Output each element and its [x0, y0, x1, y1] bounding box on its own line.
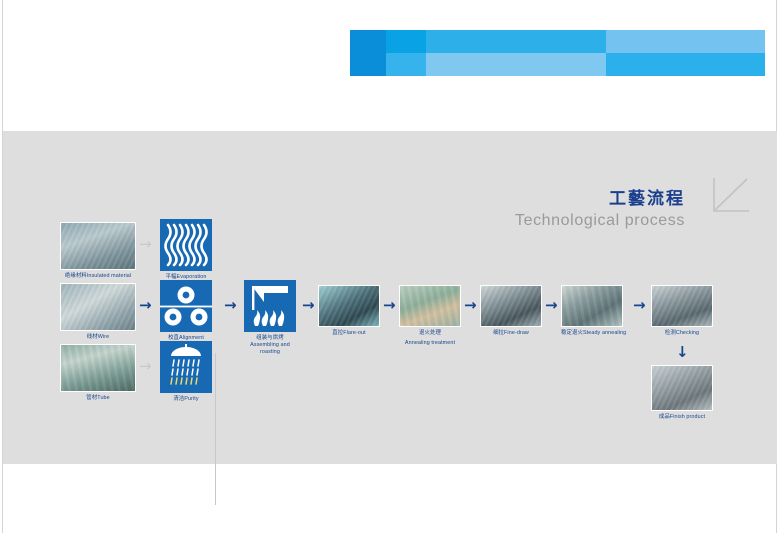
banner-segment-2	[386, 30, 426, 76]
page-title-english: Technological process	[515, 211, 685, 231]
thumb-wire	[60, 283, 136, 331]
decorative-blue-banner	[350, 30, 765, 76]
stage-wire[interactable]: 线材Wire	[60, 283, 136, 341]
page-title: 工藝流程 Technological process	[515, 189, 685, 231]
arrow-to-assembling-icon: →	[224, 298, 237, 313]
stage-tube[interactable]: 管材Tube	[60, 344, 136, 402]
thumb-insulated-material	[60, 222, 136, 270]
banner-segment-4	[606, 30, 765, 76]
three-rings-icon	[160, 280, 212, 332]
thumb-tube	[60, 344, 136, 392]
arrow-checking-to-finish-icon: ↓	[676, 345, 689, 360]
caption-wire: 线材Wire	[60, 334, 136, 341]
stage-steady-annealing[interactable]: 稳定退火Steady annealing	[561, 285, 623, 337]
caption-steady-annealing: 稳定退火Steady annealing	[561, 330, 623, 337]
caption-flare-out: 直拉Flare-out	[318, 330, 380, 337]
stage-purity[interactable]: 清洁Purity	[160, 341, 212, 403]
caption-checking: 检测Checking	[651, 330, 713, 337]
arrow-fine-to-steady-icon: →	[545, 298, 558, 313]
caption-annealing-en: Annealing treatment	[399, 340, 461, 347]
arrow-tube-to-purity-icon: →	[139, 359, 152, 374]
caption-annealing-cn: 退火处理	[399, 330, 461, 337]
stage-assembling-and-roasting[interactable]: 组装与烘烤 Assembling and roasting	[241, 280, 299, 356]
stage-annealing-treatment[interactable]: 退火处理 Annealing treatment	[399, 285, 461, 347]
arrow-flare-to-annealing-icon: →	[383, 298, 396, 313]
stage-finish-product[interactable]: 成品Finish product	[651, 365, 713, 421]
thumb-steady-annealing	[561, 285, 623, 327]
caption-insulated-material: 绝缘材料Insulated material	[60, 273, 136, 280]
caption-assembling-en: Assembling and roasting	[241, 342, 299, 356]
thumb-annealing-treatment	[399, 285, 461, 327]
page-title-chinese: 工藝流程	[515, 189, 685, 209]
content-panel: 工藝流程 Technological process 绝缘材料Insulated…	[3, 131, 777, 464]
arrow-insulated-to-evaporation-icon: →	[139, 237, 152, 252]
arrow-annealing-to-fine-icon: →	[464, 298, 477, 313]
caption-assembling-cn: 组装与烘烤	[241, 335, 299, 342]
thumb-flare-out	[318, 285, 380, 327]
stage-insulated-material[interactable]: 绝缘材料Insulated material	[60, 222, 136, 280]
caption-fine-draw: 细拉Fine-draw	[480, 330, 542, 337]
banner-segment-3	[426, 30, 606, 76]
caption-purity: 清洁Purity	[160, 396, 212, 403]
arrow-wire-to-alignment-icon: →	[139, 298, 152, 313]
stage-checking[interactable]: 检测Checking	[651, 285, 713, 337]
stage-evaporation[interactable]: 平幅Evaporation	[160, 219, 212, 281]
arrow-assembling-to-flare-icon: →	[302, 298, 315, 313]
shower-icon	[160, 341, 212, 393]
banner-segment-1	[350, 30, 386, 76]
stage-alignment[interactable]: 校直Alignment	[160, 280, 212, 342]
caption-finish-product: 成品Finish product	[651, 414, 713, 421]
stage-flare-out[interactable]: 直拉Flare-out	[318, 285, 380, 337]
flame-flag-icon	[244, 280, 296, 332]
arrow-steady-to-checking-icon: →	[633, 298, 646, 313]
thumb-finish-product	[651, 365, 713, 411]
stage-fine-draw[interactable]: 细拉Fine-draw	[480, 285, 542, 337]
thumb-fine-draw	[480, 285, 542, 327]
corner-angle-icon	[711, 176, 751, 214]
flow-divider	[215, 353, 216, 505]
caption-tube: 管材Tube	[60, 395, 136, 402]
wavy-lines-icon	[160, 219, 212, 271]
thumb-checking	[651, 285, 713, 327]
